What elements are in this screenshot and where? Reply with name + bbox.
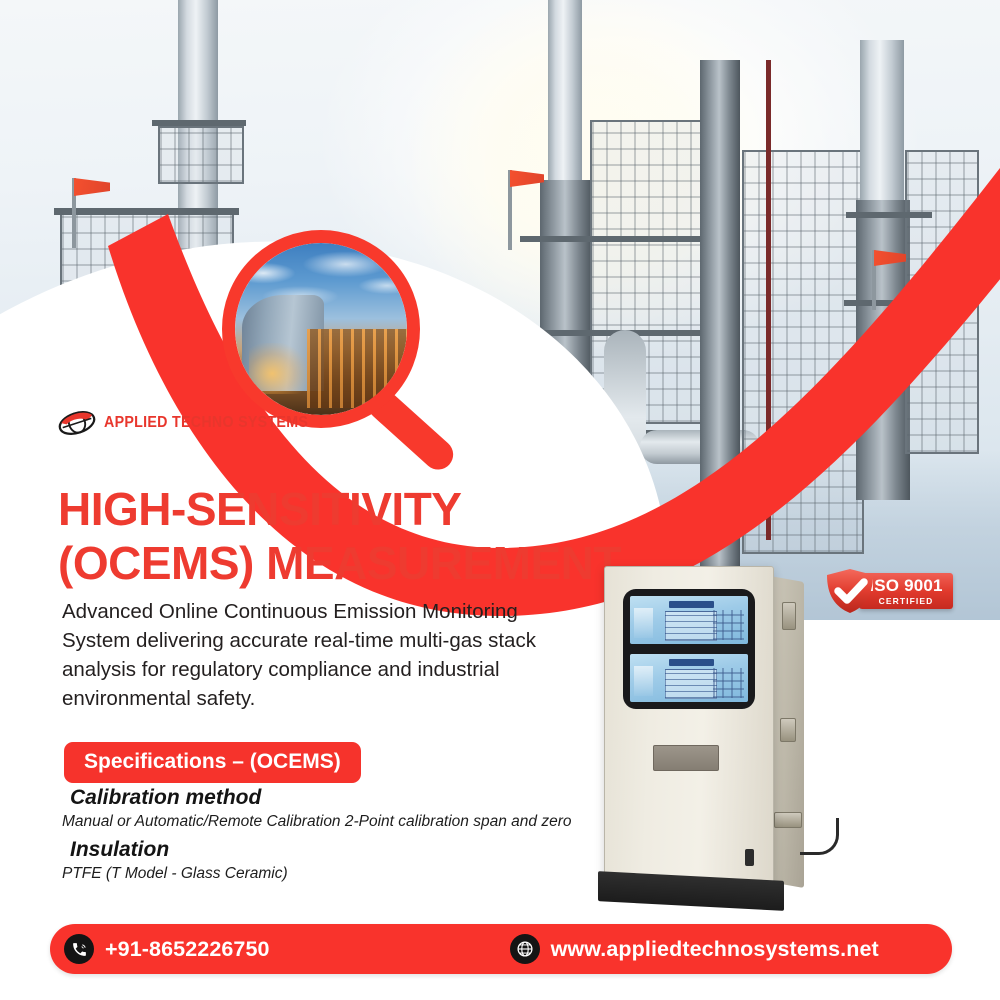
spec-term: Calibration method (70, 786, 578, 810)
headline-line-2: (OCEMS) MEASUREMENT (58, 536, 618, 590)
thin-flare-stack (766, 60, 771, 540)
analyzer-display-bottom (630, 654, 748, 702)
cabinet-fitting-bottom (774, 812, 802, 828)
globe-swoosh-icon (56, 408, 98, 438)
cabinet-door-lock (745, 849, 754, 866)
magnifier-ring (222, 230, 420, 428)
display-keypad (713, 610, 744, 640)
analyzer-display-top (630, 596, 748, 644)
spec-definition: Manual or Automatic/Remote Calibration 2… (62, 811, 578, 832)
display-keypad (713, 668, 744, 698)
status-badge: Specifications – (OCEMS) (64, 742, 361, 783)
website-url: www.appliedtechnosystems.net (551, 937, 879, 962)
shield-check-icon (821, 567, 879, 615)
contact-footer-bar: +91-8652226750 www.appliedtechnosystems.… (50, 924, 952, 974)
platform-far-right-2 (844, 300, 936, 306)
inset-plant-piping (307, 329, 407, 408)
cabinet-power-cable (800, 818, 839, 855)
cabinet-fitting-top (782, 602, 796, 630)
inset-lamp-glow (249, 343, 307, 395)
magnifying-glass-icon (222, 230, 420, 428)
platform-far-right-1 (846, 212, 932, 218)
cabinet-front-panel (604, 566, 774, 890)
spec-definition: PTFE (T Model - Glass Ceramic) (62, 863, 578, 884)
spec-term: Insulation (70, 838, 578, 862)
display-title-bar (669, 659, 714, 666)
status-badge-iso: ISO 9001 CERTIFIED (821, 567, 953, 615)
product-image-cabinet (604, 566, 804, 916)
stack-support-frame (158, 126, 244, 184)
page-title: HIGH-SENSITIVITY (OCEMS) MEASUREMENT (58, 482, 618, 590)
magnifier-inset-photo (235, 243, 407, 415)
display-sidebar (634, 666, 653, 696)
description-paragraph: Advanced Online Continuous Emission Moni… (62, 597, 567, 713)
frame-right (742, 150, 864, 554)
poster-canvas: APPLIED TECHNO SYSTEMS HIGH-SENSITIVITY … (0, 0, 1000, 1000)
phone-icon (64, 934, 94, 964)
iso-status-label: CERTIFIED (879, 596, 934, 606)
display-data-grid (665, 611, 717, 641)
platform-center-1 (520, 236, 720, 242)
contact-website[interactable]: www.appliedtechnosystems.net (510, 934, 879, 964)
display-sidebar (634, 608, 653, 638)
cabinet-nameplate (653, 745, 719, 771)
cabinet-viewing-window (623, 589, 755, 709)
specifications-list: Calibration method Manual or Automatic/R… (58, 782, 578, 890)
contact-phone[interactable]: +91-8652226750 (64, 934, 270, 964)
cabinet-fitting-mid (780, 718, 796, 742)
globe-icon (510, 934, 540, 964)
display-data-grid (665, 669, 717, 699)
logo-wordmark: APPLIED TECHNO SYSTEMS (104, 414, 308, 432)
iso-standard-label: ISO 9001 (869, 577, 942, 594)
display-title-bar (669, 601, 714, 608)
refinery-column-right (700, 60, 740, 580)
phone-number: +91-8652226750 (105, 937, 270, 962)
headline-line-1: HIGH-SENSITIVITY (58, 482, 618, 536)
company-logo[interactable]: APPLIED TECHNO SYSTEMS (56, 408, 326, 438)
plant-deck-left (54, 208, 239, 215)
tower-far-right-lower (856, 200, 910, 500)
